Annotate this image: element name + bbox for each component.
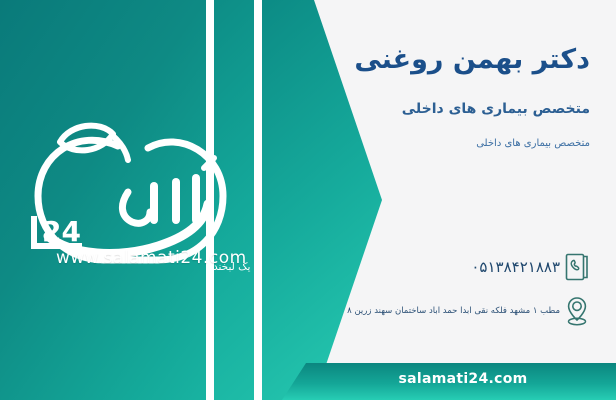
footer-website[interactable]: salamati24.com [310, 371, 616, 387]
contact-phone-row: ۰۵۱۳۸۴۲۱۸۸۳ [461, 248, 594, 286]
location-pin-icon [560, 292, 594, 330]
business-card: 24 به راحتی یک لبخند www.salamati24.com … [0, 0, 616, 400]
phone-number[interactable]: ۰۵۱۳۸۴۲۱۸۸۳ [461, 258, 560, 276]
phone-book-icon [560, 248, 594, 286]
doctor-specialty-small: متخصص بیماری های داخلی [476, 138, 590, 149]
logo-website[interactable]: www.salamati24.com [56, 248, 247, 268]
logo-24-badge: 24 [34, 215, 82, 248]
card-content: دکتر بهمن روغنی متخصص بیماری های داخلی م… [300, 0, 616, 400]
doctor-name: دکتر بهمن روغنی [354, 44, 590, 75]
footer-bar: salamati24.com [282, 363, 616, 400]
address-text[interactable]: مطب ۱ مشهد فلکه نقی ابدا حمد اباد ساختما… [337, 306, 560, 316]
logo-number: 24 [42, 215, 81, 248]
contact-address-row: مطب ۱ مشهد فلکه نقی ابدا حمد اباد ساختما… [337, 292, 594, 330]
doctor-specialty: متخصص بیماری های داخلی [402, 101, 590, 117]
